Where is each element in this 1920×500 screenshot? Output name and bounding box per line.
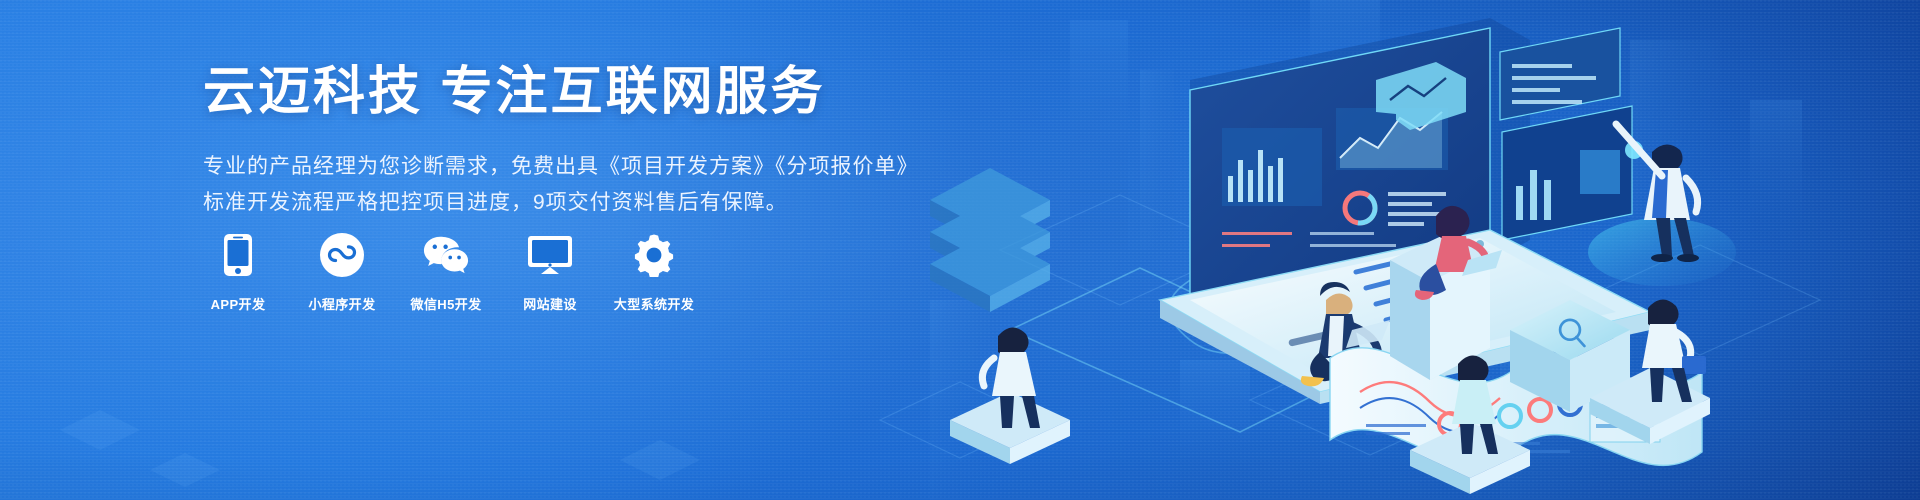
service-list: APP开发 小程序开发 微信 <box>203 232 689 313</box>
service-label: 小程序开发 <box>308 294 375 313</box>
service-label: 网站建设 <box>523 294 577 313</box>
dashboard-screen <box>1190 18 1643 325</box>
person-on-pedestal <box>1390 206 1502 380</box>
service-label: 大型系统开发 <box>614 294 694 313</box>
wechat-icon <box>423 232 469 278</box>
person-bottom-left <box>950 327 1070 464</box>
monitor-icon <box>527 232 573 278</box>
service-item-large-system[interactable]: 大型系统开发 <box>619 232 689 313</box>
gear-icon <box>631 232 677 278</box>
server-stack <box>930 168 1050 312</box>
data-report-sheet <box>1330 348 1702 466</box>
mini-program-icon <box>319 232 365 278</box>
promo-banner: 云迈科技 专注互联网服务 专业的产品经理为您诊断需求，免费出具《项目开发方案》《… <box>0 0 1920 500</box>
walking-person-briefcase <box>1590 299 1710 444</box>
service-label: 微信H5开发 <box>410 294 481 313</box>
subtitle-line-1: 专业的产品经理为您诊断需求，免费出具《项目开发方案》《分项报价单》 <box>203 149 923 185</box>
banner-content: 云迈科技 专注互联网服务 专业的产品经理为您诊断需求，免费出具《项目开发方案》《… <box>203 62 923 222</box>
service-item-mini-program[interactable]: 小程序开发 <box>307 232 377 313</box>
banner-subtitle: 专业的产品经理为您诊断需求，免费出具《项目开发方案》《分项报价单》 标准开发流程… <box>203 149 923 221</box>
subtitle-line-2: 标准开发流程严格把控项目进度，9项交付资料售后有保障。 <box>203 185 923 221</box>
chat-bubble-chart <box>1376 62 1466 130</box>
page-title: 云迈科技 专注互联网服务 <box>203 62 923 123</box>
seated-person-laptop <box>1301 282 1390 392</box>
smartphone-platform <box>1160 230 1650 404</box>
standing-person-right <box>1616 124 1699 262</box>
service-item-app[interactable]: APP开发 <box>203 232 273 313</box>
hero-illustration <box>890 0 1890 500</box>
service-item-website[interactable]: 网站建设 <box>515 232 585 313</box>
mobile-phone-icon <box>215 232 261 278</box>
search-cube <box>1510 300 1630 412</box>
service-item-wechat-h5[interactable]: 微信H5开发 <box>411 232 481 313</box>
person-bottom-middle <box>1410 355 1530 494</box>
service-label: APP开发 <box>211 294 266 313</box>
